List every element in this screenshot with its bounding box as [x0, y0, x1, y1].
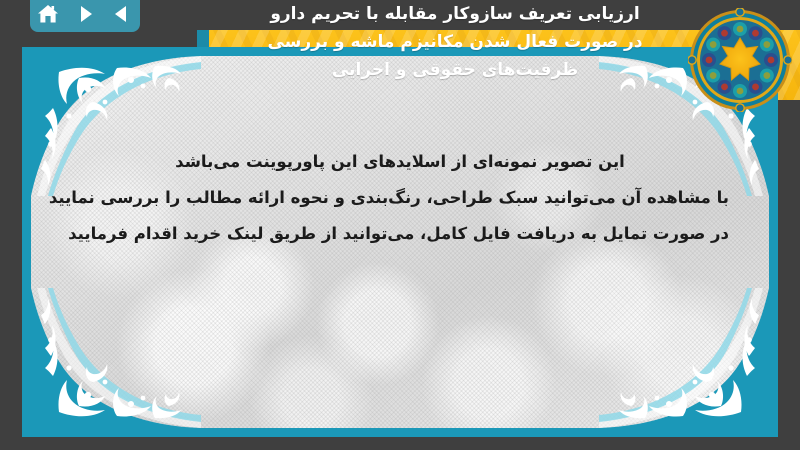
medallion-graphic: [688, 8, 792, 112]
arabesque-corner-bottom-left: [31, 288, 201, 428]
title-line-2: در صورت فعال شدن مکانیزم ماشه و بررسی: [195, 28, 715, 56]
slide-content-area: این تصویر نمونه‌ای از اسلایدهای این پاور…: [31, 56, 769, 428]
slide-body-text: این تصویر نمونه‌ای از اسلایدهای این پاور…: [71, 144, 729, 252]
slide-canvas[interactable]: این تصویر نمونه‌ای از اسلایدهای این پاور…: [22, 47, 778, 437]
home-icon: [36, 3, 60, 25]
presentation-title: ارزیابی تعریف سازوکار مقابله با تحریم دا…: [195, 0, 715, 84]
home-button[interactable]: [35, 1, 61, 27]
previous-slide-button[interactable]: [109, 1, 135, 27]
body-line-3: در صورت تمایل به دریافت فایل کامل، می‌تو…: [71, 216, 729, 252]
arabesque-corner-icon: [599, 288, 769, 428]
next-slide-button[interactable]: [72, 1, 98, 27]
body-line-2: با مشاهده آن می‌توانید سبک طراحی، رنگ‌بن…: [71, 180, 729, 216]
arabesque-corner-bottom-right: [599, 288, 769, 428]
triangle-left-icon: [111, 3, 133, 25]
body-line-1: این تصویر نمونه‌ای از اسلایدهای این پاور…: [71, 144, 729, 180]
persian-medallion-ornament: [688, 8, 792, 112]
title-line-3: ظرفیت‌های حقوقی و اجرایی: [195, 56, 715, 84]
slide-navigation-bar: [30, 0, 140, 32]
title-line-1: ارزیابی تعریف سازوکار مقابله با تحریم دا…: [195, 0, 715, 28]
arabesque-corner-icon: [31, 288, 201, 428]
slide-viewer-root: ارزیابی تعریف سازوکار مقابله با تحریم دا…: [0, 0, 800, 450]
triangle-right-icon: [74, 3, 96, 25]
